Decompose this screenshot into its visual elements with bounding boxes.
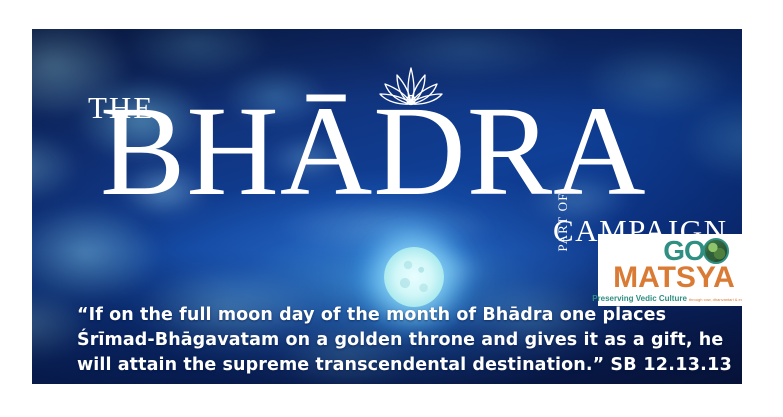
logo-tagline-row: Preserving Vedic Culture through cow, dh…	[592, 295, 742, 303]
go-matsya-logo[interactable]: GO MATSYA Preserving Vedic Culture throu…	[598, 234, 742, 306]
scripture-quote: “If on the full moon day of the month of…	[77, 303, 717, 378]
moon-disc	[384, 247, 444, 307]
bhadra-campaign-banner: THE BHĀDRA CAMPAIGN PART OF GO MATSYA Pr…	[32, 29, 742, 384]
page-canvas: THE BHĀDRA CAMPAIGN PART OF GO MATSYA Pr…	[0, 0, 783, 417]
quote-line-2: Śrīmad-Bhāgavatam on a golden throne and…	[77, 328, 717, 353]
quote-reference: SB 12.13.13	[610, 355, 732, 375]
logo-tagline: Preserving Vedic Culture	[592, 295, 687, 303]
logo-go-row: GO	[663, 237, 729, 264]
partner-block: PART OF GO MATSYA Preserving Vedic Cultu…	[550, 219, 742, 311]
quote-line-1: “If on the full moon day of the month of…	[77, 303, 717, 328]
cow-krishna-emblem-icon	[703, 238, 729, 264]
logo-subtagline: through cow, dhanvantari & education	[689, 298, 742, 302]
quote-line-3-text: will attain the supreme transcendental d…	[77, 355, 604, 375]
quote-line-3: will attain the supreme transcendental d…	[77, 353, 717, 378]
part-of-label: PART OF	[554, 191, 572, 253]
logo-matsya-text: MATSYA	[613, 263, 735, 293]
